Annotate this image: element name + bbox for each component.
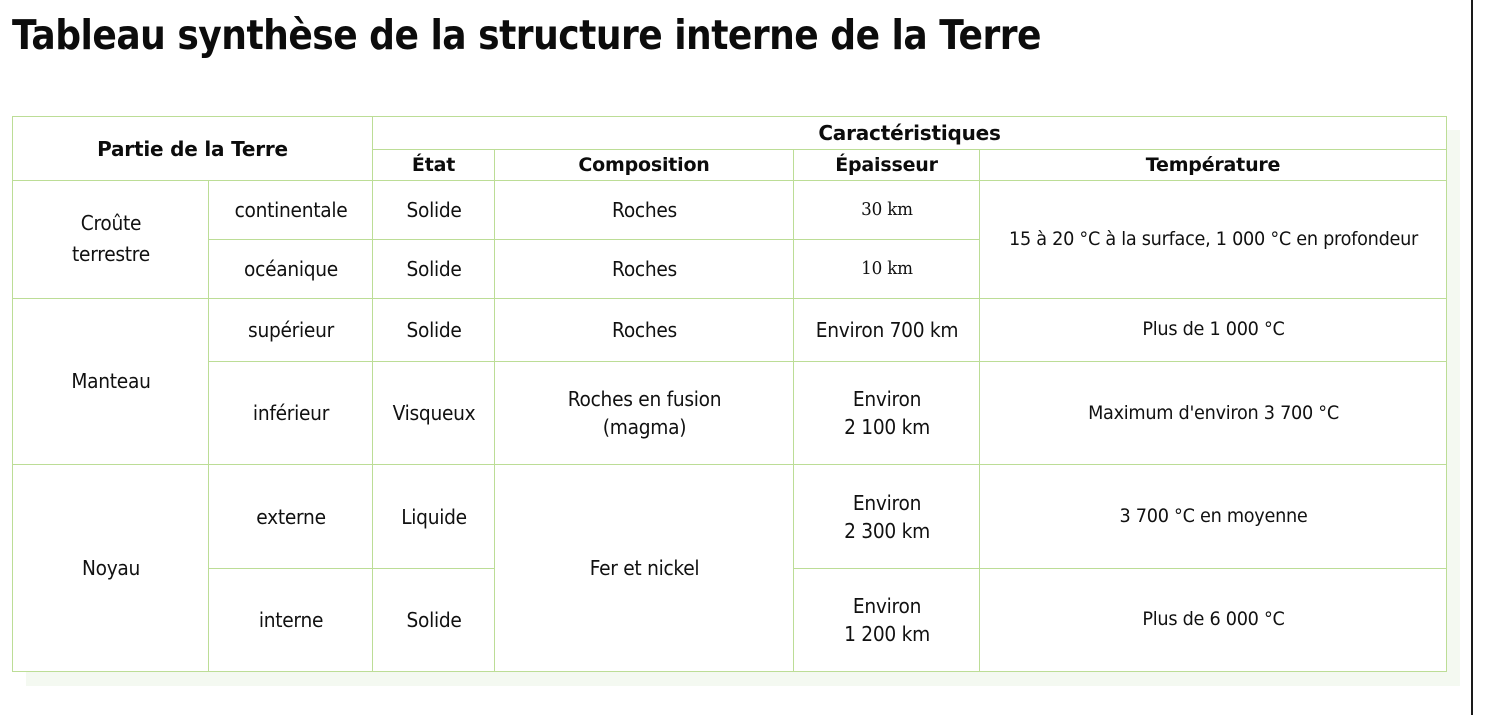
cell-composition-manteau-inferieur: Roches en fusion (magma) xyxy=(505,362,783,465)
cell-sub-continentale: continentale xyxy=(214,181,367,240)
table-header: Partie de la Terre Caractéristiques État… xyxy=(13,117,1447,181)
cell-epaisseur-croute-continentale: 30 km xyxy=(800,181,973,240)
table-body: Croûte terrestre continentale Solide Roc… xyxy=(13,181,1447,672)
cell-epaisseur-noyau-interne: Environ 1 200 km xyxy=(800,568,973,671)
header-etat: État xyxy=(373,150,495,181)
cell-temperature-croute: 15 à 20 °C à la surface, 1 000 °C en pro… xyxy=(996,181,1430,299)
cell-temperature-noyau-externe: 3 700 °C en moyenne xyxy=(996,465,1430,568)
part-line-2: terrestre xyxy=(27,239,193,270)
cell-epaisseur-manteau-superieur: Environ 700 km xyxy=(800,298,973,362)
epaisseur-line-2: 1 200 km xyxy=(808,620,965,648)
table-container: Partie de la Terre Caractéristiques État… xyxy=(12,116,1446,672)
cell-etat-manteau-superieur: Solide xyxy=(377,298,490,362)
cell-sub-oceanique: océanique xyxy=(214,239,367,298)
header-partie-de-la-terre: Partie de la Terre xyxy=(13,117,373,181)
cell-temperature-manteau-superieur: Plus de 1 000 °C xyxy=(996,298,1430,362)
cell-part-manteau: Manteau xyxy=(19,298,201,465)
header-epaisseur: Épaisseur xyxy=(794,150,980,181)
cell-sub-superieur: supérieur xyxy=(214,298,367,362)
table-row: Noyau externe Liquide Fer et nickel Envi… xyxy=(13,465,1447,568)
cell-temperature-manteau-inferieur: Maximum d'environ 3 700 °C xyxy=(996,362,1430,465)
composition-line-2: (magma) xyxy=(513,413,775,441)
cell-etat-noyau-interne: Solide xyxy=(377,568,490,671)
header-composition: Composition xyxy=(495,150,794,181)
cell-part-croute: Croûte terrestre xyxy=(19,181,201,299)
cell-sub-interne: interne xyxy=(214,568,367,671)
table-row: Manteau supérieur Solide Roches Environ … xyxy=(13,298,1447,362)
earth-structure-table: Partie de la Terre Caractéristiques État… xyxy=(12,116,1447,672)
header-caracteristiques: Caractéristiques xyxy=(373,117,1447,150)
cell-etat-noyau-externe: Liquide xyxy=(377,465,490,568)
cell-epaisseur-noyau-externe: Environ 2 300 km xyxy=(800,465,973,568)
cell-composition-croute-continentale: Roches xyxy=(505,181,783,240)
epaisseur-line-1: Environ xyxy=(808,592,965,620)
cell-composition-croute-oceanique: Roches xyxy=(505,239,783,298)
cell-etat-manteau-inferieur: Visqueux xyxy=(377,362,490,465)
cell-part-noyau: Noyau xyxy=(19,465,201,672)
cell-etat-croute-continentale: Solide xyxy=(377,181,490,240)
cell-composition-manteau-superieur: Roches xyxy=(505,298,783,362)
epaisseur-line-1: Environ xyxy=(808,385,965,413)
cell-epaisseur-croute-oceanique: 10 km xyxy=(800,239,973,298)
composition-line-1: Roches en fusion xyxy=(513,385,775,413)
cell-etat-croute-oceanique: Solide xyxy=(377,239,490,298)
cell-composition-noyau: Fer et nickel xyxy=(505,465,783,672)
table-row: inférieur Visqueux Roches en fusion (mag… xyxy=(13,362,1447,465)
page-right-edge xyxy=(1471,0,1473,715)
header-temperature: Température xyxy=(980,150,1447,181)
page-title: Tableau synthèse de la structure interne… xyxy=(12,8,1041,62)
epaisseur-line-1: Environ xyxy=(808,489,965,517)
cell-sub-externe: externe xyxy=(214,465,367,568)
cell-sub-inferieur: inférieur xyxy=(214,362,367,465)
cell-temperature-noyau-interne: Plus de 6 000 °C xyxy=(996,568,1430,671)
epaisseur-line-2: 2 300 km xyxy=(808,517,965,545)
epaisseur-line-2: 2 100 km xyxy=(808,413,965,441)
table-row: Croûte terrestre continentale Solide Roc… xyxy=(13,181,1447,240)
cell-epaisseur-manteau-inferieur: Environ 2 100 km xyxy=(800,362,973,465)
part-line-1: Croûte xyxy=(27,208,193,239)
header-row-top: Partie de la Terre Caractéristiques xyxy=(13,117,1447,150)
